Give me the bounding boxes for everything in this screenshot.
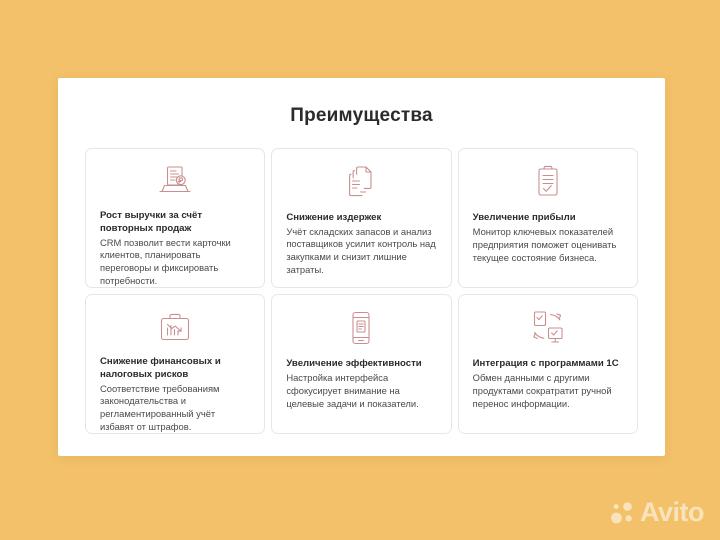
advantage-card-desc: Обмен данными с другими продуктами сокра… — [473, 372, 623, 411]
page-title: Преимущества — [58, 78, 665, 127]
advantage-card-title: Интеграция с программами 1С — [473, 358, 619, 371]
clipboard-checklist-icon — [527, 161, 569, 203]
avito-watermark: Avito — [609, 499, 704, 526]
stacked-documents-icon — [340, 161, 382, 203]
advantage-card-desc: CRM позволит вести карточки клиентов, пл… — [100, 237, 250, 289]
advantage-card-title: Увеличение прибыли — [473, 212, 576, 225]
avito-logo-icon — [609, 500, 635, 526]
laptop-document-ruble-icon — [154, 161, 196, 201]
advantage-card-desc: Учёт складских запасов и анализ поставщи… — [286, 226, 436, 278]
briefcase-chart-icon — [154, 307, 196, 347]
advantages-panel: Преимущества Рост выручки за счёт повтор… — [58, 78, 665, 456]
advantage-card-title: Снижение финансовых и налоговых рисков — [100, 356, 250, 382]
advantage-card-title: Увеличение эффективности — [286, 358, 421, 371]
advantage-card[interactable]: Снижение издержек Учёт складских запасов… — [271, 148, 451, 288]
advantage-card-desc: Соответствие требованиям законодательств… — [100, 383, 250, 435]
advantage-card[interactable]: Увеличение прибыли Монитор ключевых пока… — [458, 148, 638, 288]
advantage-card-title: Снижение издержек — [286, 212, 381, 225]
advantage-card-title: Рост выручки за счёт повторных продаж — [100, 210, 250, 236]
data-exchange-icon — [527, 307, 569, 349]
advantage-card[interactable]: Интеграция с программами 1С Обмен данным… — [458, 294, 638, 434]
advantage-card-desc: Монитор ключевых показателей предприятия… — [473, 226, 623, 265]
smartphone-document-icon — [340, 307, 382, 349]
advantage-card[interactable]: Увеличение эффективности Настройка интер… — [271, 294, 451, 434]
avito-watermark-label: Avito — [640, 499, 704, 526]
advantage-card-desc: Настройка интерфейса сфокусирует внимани… — [286, 372, 436, 411]
advantage-card[interactable]: Рост выручки за счёт повторных продаж CR… — [85, 148, 265, 288]
advantages-grid: Рост выручки за счёт повторных продаж CR… — [85, 148, 638, 434]
advantage-card[interactable]: Снижение финансовых и налоговых рисков С… — [85, 294, 265, 434]
